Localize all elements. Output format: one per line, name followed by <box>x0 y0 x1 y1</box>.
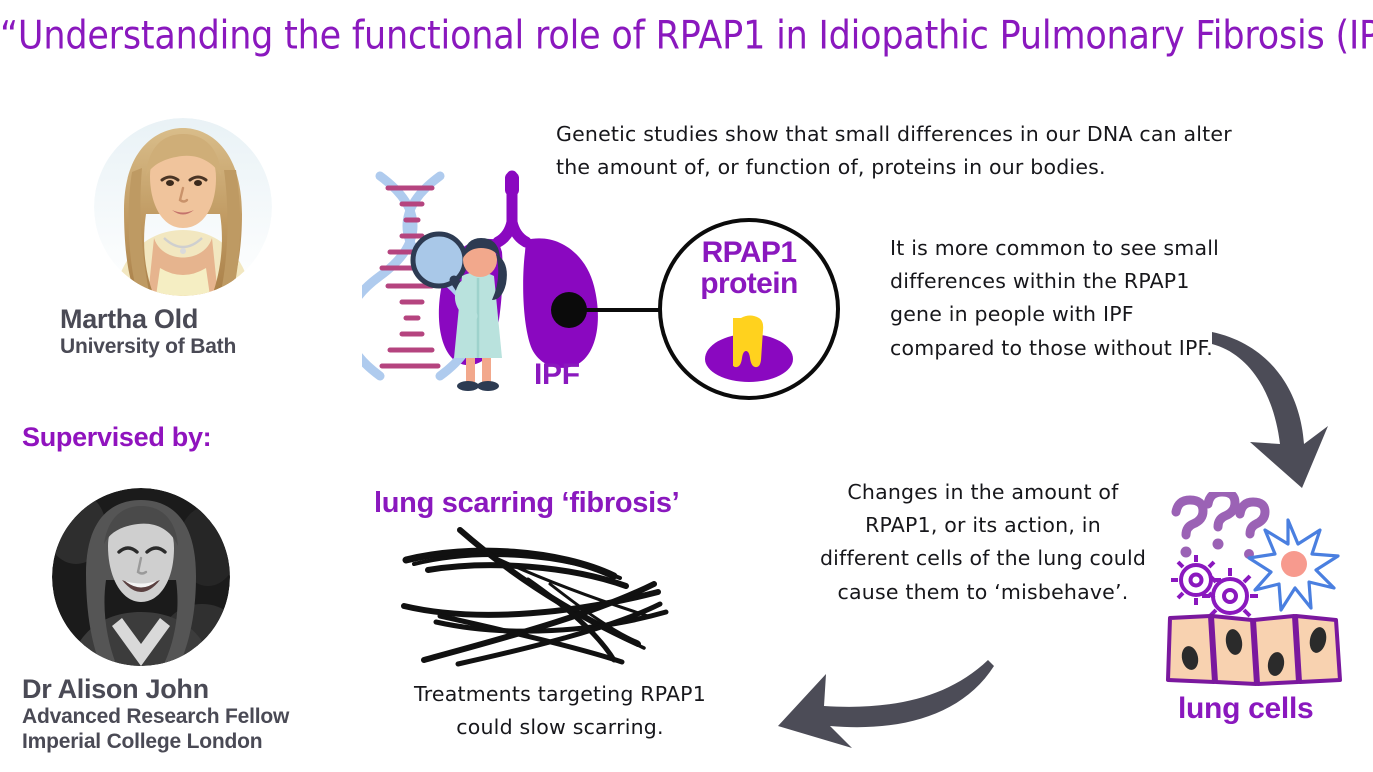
avatar <box>52 488 230 666</box>
genetic-studies-text: Genetic studies show that small differen… <box>556 118 1236 184</box>
fibrosis-label: lung scarring ‘fibrosis’ <box>374 487 679 520</box>
curved-arrow-left-icon <box>748 630 998 750</box>
rpap1-common-text: It is more common to see small differenc… <box>890 232 1220 365</box>
rpap1-callout-circle: RPAP1 protein <box>658 218 840 400</box>
author-card: Martha Old University of Bath <box>60 118 320 360</box>
supervisor-card: Dr Alison John Advanced Research Fellow … <box>22 488 322 755</box>
supervised-by-label: Supervised by: <box>22 422 211 453</box>
three-question-marks-icon <box>1176 492 1265 535</box>
curved-arrow-down-icon <box>1204 322 1354 492</box>
fibrosis-scribble-icon <box>400 520 710 670</box>
changes-in-cells-text: Changes in the amount of RPAP1, or its a… <box>818 476 1148 609</box>
ipf-label: IPF <box>534 358 580 392</box>
protein-yellow-shape-icon <box>733 314 766 368</box>
rpap1-callout-text: RPAP1 protein <box>662 238 836 299</box>
supervisor-affiliation-line1: Advanced Research Fellow <box>22 705 322 730</box>
lung-cells-label: lung cells <box>1178 692 1313 726</box>
treatments-text: Treatments targeting RPAP1 could slow sc… <box>400 678 720 744</box>
supervisor-affiliation-line2: Imperial College London <box>22 730 322 755</box>
page-title: “Understanding the functional role of RP… <box>0 14 1373 59</box>
supervisor-name: Dr Alison John <box>22 674 322 705</box>
poster-canvas: “Understanding the functional role of RP… <box>0 0 1373 772</box>
rpap1-line1: RPAP1 <box>702 236 797 269</box>
author-affiliation: University of Bath <box>60 335 320 360</box>
callout-anchor-dot <box>551 292 587 328</box>
lung-cells-illustration <box>1160 492 1360 692</box>
author-name: Martha Old <box>60 304 320 335</box>
avatar <box>94 118 272 296</box>
rpap1-line2: protein <box>700 267 797 300</box>
star-shaped-cell-icon <box>1249 520 1338 610</box>
dna-lungs-illustration <box>362 168 662 403</box>
two-gears-icon <box>1171 555 1258 624</box>
